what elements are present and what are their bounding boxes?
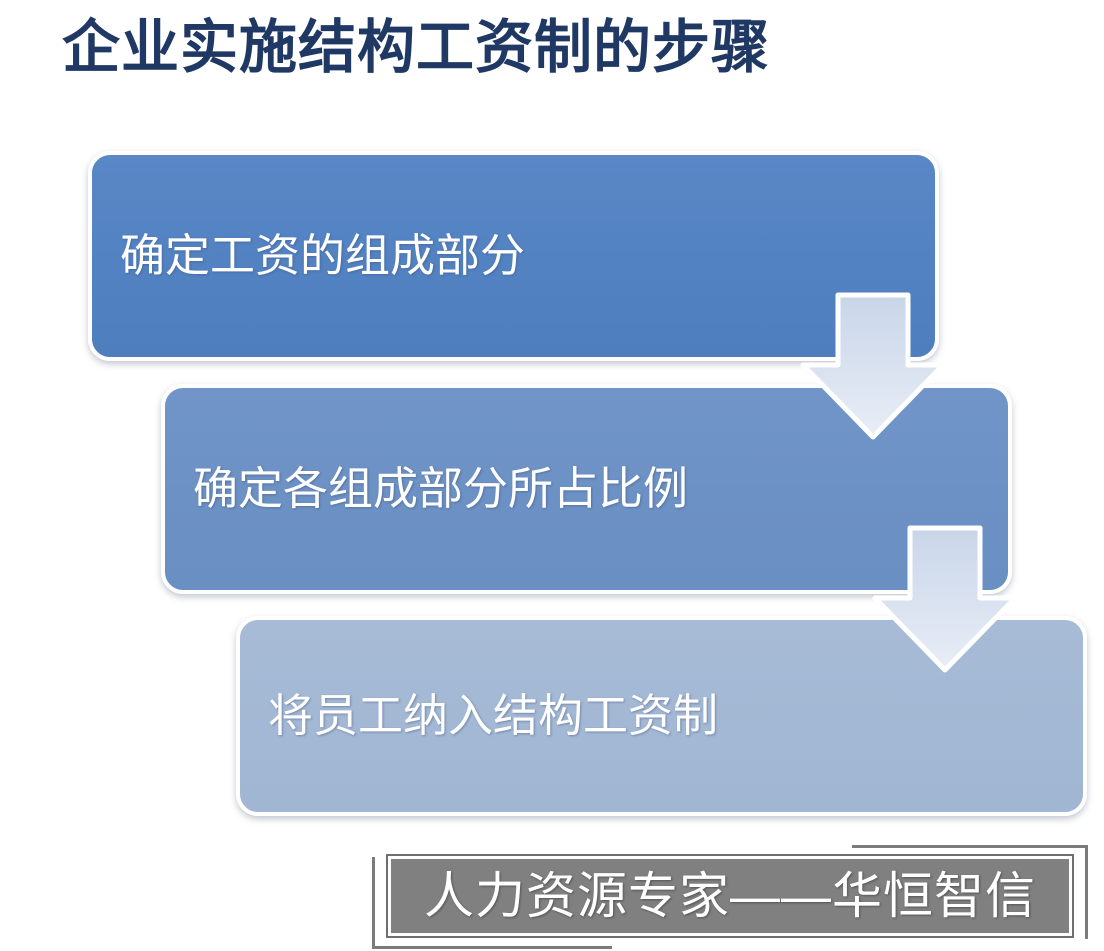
- footer-banner: 人力资源专家——华恒智信: [388, 856, 1072, 936]
- flow-step-label-1: 确定工资的组成部分: [92, 231, 525, 281]
- footer-banner-group: 人力资源专家——华恒智信: [372, 845, 1088, 949]
- page-title: 企业实施结构工资制的步骤: [62, 16, 770, 80]
- down-arrow-icon: [872, 525, 1018, 673]
- footer-banner-text: 人力资源专家——华恒智信: [424, 871, 1036, 921]
- flow-step-label-2: 确定各组成部分所占比例: [165, 464, 688, 514]
- down-arrow-icon: [800, 292, 946, 440]
- slide-canvas: 企业实施结构工资制的步骤 确定工资的组成部分 确定各组成部分所占比例 将员工纳入…: [0, 0, 1104, 951]
- flow-step-label-3: 将员工纳入结构工资制: [240, 691, 718, 741]
